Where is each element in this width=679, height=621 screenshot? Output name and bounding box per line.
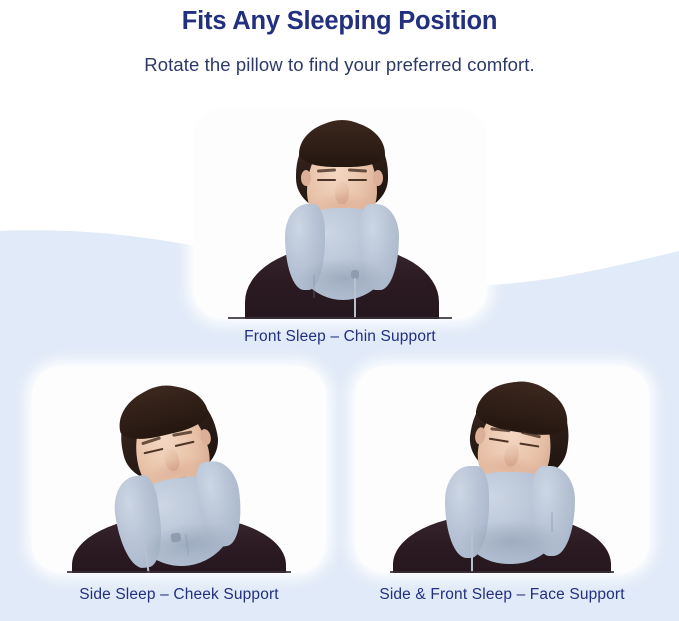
caption-front-sleep: Front Sleep – Chin Support: [193, 327, 487, 347]
caption-side-front-sleep: Side & Front Sleep – Face Support: [355, 585, 649, 605]
eye-closed-left: [317, 179, 336, 181]
pillow-shadow: [459, 520, 565, 562]
person-illustration-side: [32, 366, 326, 573]
pillow-seam: [313, 274, 315, 298]
infographic-canvas: Fits Any Sleeping Position Rotate the pi…: [0, 0, 679, 621]
photo-card-side-front-sleep: [355, 366, 649, 573]
product-photo-front-sleep: [193, 108, 487, 319]
person-illustration-front: [193, 108, 487, 319]
header-block: Fits Any Sleeping Position Rotate the pi…: [0, 0, 679, 77]
product-photo-side-sleep: [32, 366, 326, 573]
photo-card-side-sleep: [32, 366, 326, 573]
photo-card-front-sleep: [193, 108, 487, 319]
travel-pillow-group: [32, 366, 326, 573]
pillow-drawcord: [354, 278, 356, 318]
ear-right: [373, 170, 383, 186]
pillow-seam: [551, 512, 553, 532]
pillow-shadow: [297, 258, 391, 298]
pillow-drawcord: [471, 530, 473, 572]
eye-closed-right: [348, 179, 367, 181]
ear-left: [301, 170, 311, 186]
pillow-toggle-clasp: [170, 532, 181, 542]
caption-side-sleep: Side Sleep – Cheek Support: [32, 585, 326, 605]
product-photo-side-front-sleep: [355, 366, 649, 573]
page-subtitle: Rotate the pillow to find your preferred…: [0, 37, 679, 77]
page-title: Fits Any Sleeping Position: [0, 0, 679, 37]
hair-fringe: [299, 121, 385, 167]
person-illustration-side-front: [355, 366, 649, 573]
